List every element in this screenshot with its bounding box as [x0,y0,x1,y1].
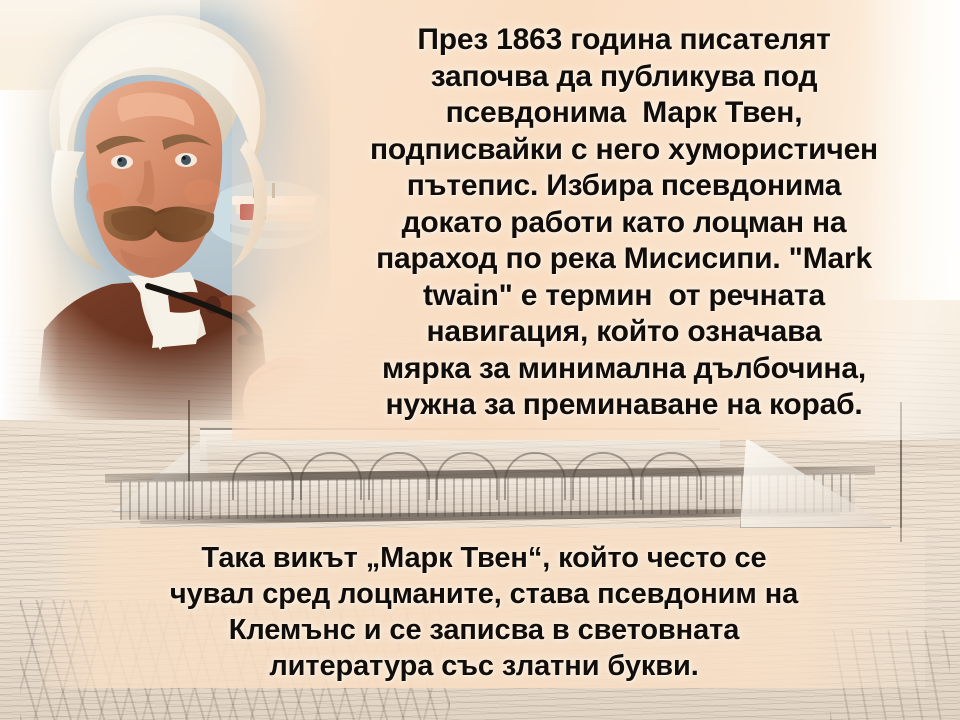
top-paragraph: През 1863 година писателят започва да пу… [288,22,960,424]
bottom-paragraph: Така викът „Марк Твен“, който често се ч… [52,540,916,684]
portrait-left-fade [0,90,60,420]
slide-canvas: През 1863 година писателят започва да пу… [0,0,960,720]
portrait-top-fade [0,0,200,40]
